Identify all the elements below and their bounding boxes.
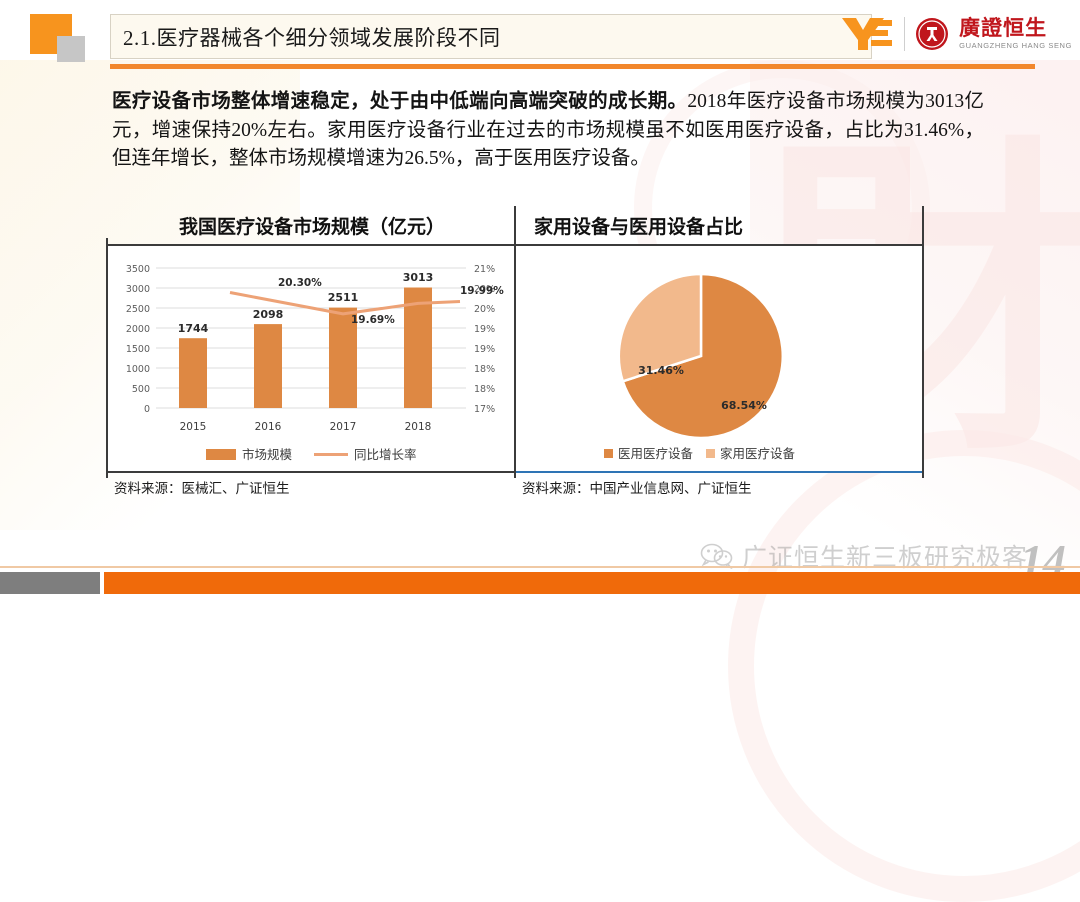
logo-name-cn: 廣證恒生 [959, 18, 1072, 39]
svg-text:2511: 2511 [328, 291, 359, 304]
combo-left-axis-labels: 3500 3000 2500 2000 1500 1000 500 0 [126, 264, 150, 415]
svg-text:0: 0 [144, 404, 150, 415]
footer-orange-bar [104, 572, 1080, 594]
page-title: 2.1.医疗器械各个细分领域发展阶段不同 [111, 22, 501, 52]
panel-divider-right [922, 206, 924, 478]
legend-label-medical: 医用医疗设备 [618, 446, 694, 461]
title-underline-bar [110, 64, 1035, 69]
svg-text:17%: 17% [474, 404, 495, 415]
svg-text:2016: 2016 [255, 421, 282, 433]
svg-text:3000: 3000 [126, 284, 150, 295]
header-gray-square [57, 36, 85, 62]
left-chart-title: 我国医疗设备市场规模（亿元） [108, 206, 516, 244]
svg-text:1500: 1500 [126, 344, 150, 355]
svg-text:19%: 19% [474, 344, 495, 355]
legend-label-line: 同比增长率 [354, 447, 417, 462]
logo-text-block: 廣證恒生 GUANGZHENG HANG SENG [959, 18, 1072, 50]
svg-text:2015: 2015 [180, 421, 207, 433]
footer-gray-block [0, 572, 100, 594]
pie-chart: 31.46% 68.54% 医用医疗设备 家用医疗设备 [516, 246, 924, 471]
ye-mark-icon [840, 14, 894, 54]
brand-logo: 廣證恒生 GUANGZHENG HANG SENG [840, 10, 1072, 58]
svg-text:2000: 2000 [126, 324, 150, 335]
legend-swatch-medical [604, 449, 613, 458]
right-chart-source: 资料来源：中国产业信息网、广证恒生 [516, 473, 924, 501]
legend-label-home: 家用医疗设备 [720, 446, 796, 461]
body-paragraph: 医疗设备市场整体增速稳定，处于由中低端向高端突破的成长期。2018年医疗设备市场… [112, 88, 984, 174]
svg-text:20%: 20% [474, 304, 495, 315]
svg-text:18%: 18% [474, 384, 495, 395]
legend-label-bar: 市场规模 [242, 447, 293, 462]
footer-watermark: 广证恒生新三板研究极客 [700, 538, 1028, 574]
svg-text:1744: 1744 [178, 322, 209, 335]
right-chart-title: 家用设备与医用设备占比 [516, 206, 924, 244]
right-chart-panel: 家用设备与医用设备占比 31.46% 68.54% 医用医疗设备 家用医疗设备 … [516, 206, 924, 501]
combo-chart: 3500 3000 2500 2000 1500 1000 500 0 21% … [108, 246, 516, 471]
svg-text:3013: 3013 [403, 271, 434, 284]
svg-text:18%: 18% [474, 364, 495, 375]
svg-text:1000: 1000 [126, 364, 150, 375]
left-chart-body: 3500 3000 2500 2000 1500 1000 500 0 21% … [108, 246, 516, 471]
right-chart-body: 31.46% 68.54% 医用医疗设备 家用医疗设备 [516, 246, 924, 471]
svg-text:19%: 19% [474, 324, 495, 335]
combo-line-data-labels: 20.30% 19.69% 19.99% [278, 277, 504, 326]
legend-swatch-home [706, 449, 715, 458]
svg-text:21%: 21% [474, 264, 495, 275]
svg-text:2018: 2018 [405, 421, 432, 433]
body-paragraph-bold: 医疗设备市场整体增速稳定，处于由中低端向高端突破的成长期。 [112, 91, 687, 112]
svg-text:2098: 2098 [253, 308, 284, 321]
legend-swatch-bar [206, 449, 236, 460]
page-title-box: 2.1.医疗器械各个细分领域发展阶段不同 [110, 14, 872, 59]
logo-name-en: GUANGZHENG HANG SENG [959, 42, 1072, 50]
svg-text:2500: 2500 [126, 304, 150, 315]
left-chart-source: 资料来源：医械汇、广证恒生 [108, 473, 516, 501]
panel-divider-left [106, 238, 108, 478]
seal-icon [915, 17, 949, 51]
left-chart-panel: 我国医疗设备市场规模（亿元） 3500 3000 [108, 206, 516, 501]
combo-legend: 市场规模 同比增长率 [206, 447, 417, 462]
svg-text:20.30%: 20.30% [278, 277, 322, 289]
pie-label-medical: 68.54% [721, 399, 767, 412]
footer-thin-line [0, 566, 1080, 568]
pie-legend: 医用医疗设备 家用医疗设备 [604, 446, 796, 461]
svg-text:19.69%: 19.69% [351, 314, 395, 326]
pie-label-home: 31.46% [638, 364, 684, 377]
svg-text:3500: 3500 [126, 264, 150, 275]
logo-divider [904, 17, 905, 51]
svg-text:2017: 2017 [330, 421, 357, 433]
combo-category-labels: 2015 2016 2017 2018 [180, 421, 432, 433]
footer-watermark-text: 广证恒生新三板研究极客 [742, 538, 1028, 574]
svg-text:19.99%: 19.99% [460, 285, 504, 297]
svg-text:500: 500 [132, 384, 150, 395]
panel-divider-middle [514, 206, 516, 478]
